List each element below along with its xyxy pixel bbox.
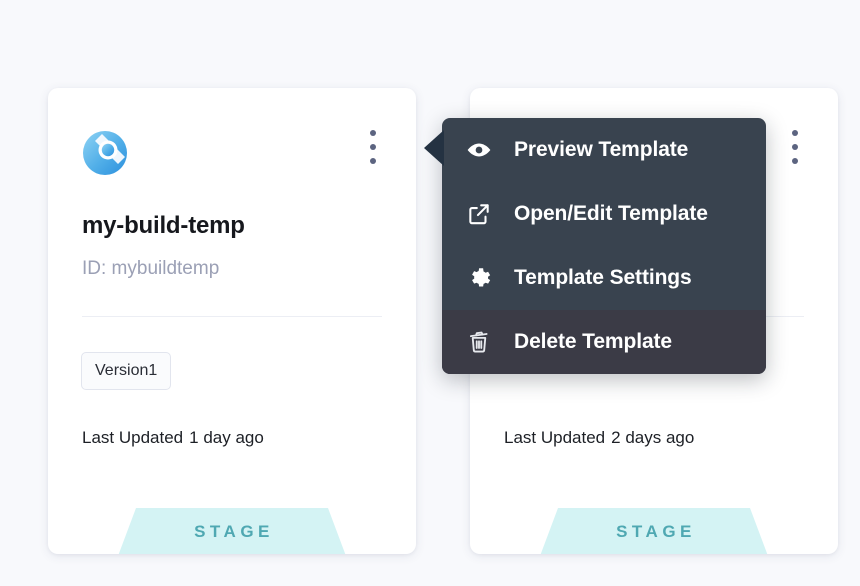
stage-label: STAGE	[612, 522, 696, 542]
menu-item-label: Template Settings	[514, 266, 692, 290]
menu-item-label: Open/Edit Template	[514, 202, 708, 226]
last-updated-label: Last Updated	[82, 428, 183, 447]
external-link-icon	[466, 201, 500, 227]
last-updated-value: 2 days ago	[611, 428, 694, 447]
last-updated: Last Updated1 day ago	[82, 428, 264, 448]
menu-item-preview-template[interactable]: Preview Template	[442, 118, 766, 182]
gear-icon	[466, 265, 500, 291]
stage-ribbon: STAGE	[540, 508, 768, 554]
more-vertical-icon-dot	[792, 158, 798, 164]
menu-item-label: Delete Template	[514, 330, 672, 354]
trash-icon	[466, 329, 500, 355]
magnifier-circle-logo-icon	[82, 130, 128, 176]
menu-item-template-settings[interactable]: Template Settings	[442, 246, 766, 310]
menu-item-open-edit-template[interactable]: Open/Edit Template	[442, 182, 766, 246]
last-updated: Last Updated2 days ago	[504, 428, 694, 448]
menu-item-delete-template[interactable]: Delete Template	[442, 310, 766, 374]
stage-ribbon: STAGE	[118, 508, 346, 554]
card-id: ID: mybuildtemp	[82, 258, 219, 280]
eye-icon	[466, 137, 500, 163]
more-vertical-icon-dot	[370, 158, 376, 164]
card-menu-button[interactable]	[786, 128, 804, 166]
card-divider	[82, 316, 382, 317]
more-vertical-icon-dot	[792, 130, 798, 136]
stage-label: STAGE	[190, 522, 274, 542]
version-badge[interactable]: Version1	[81, 352, 171, 390]
card-menu-button[interactable]	[364, 128, 382, 166]
more-vertical-icon-dot	[370, 130, 376, 136]
card-title: my-build-temp	[82, 212, 245, 240]
context-menu-caret-icon	[424, 130, 444, 166]
last-updated-value: 1 day ago	[189, 428, 264, 447]
more-vertical-icon-dot	[370, 144, 376, 150]
context-menu[interactable]: Preview Template Open/Edit Template Temp…	[442, 118, 766, 374]
menu-item-label: Preview Template	[514, 138, 688, 162]
template-card-left[interactable]: my-build-temp ID: mybuildtemp Version1 L…	[48, 88, 416, 554]
last-updated-label: Last Updated	[504, 428, 605, 447]
more-vertical-icon-dot	[792, 144, 798, 150]
